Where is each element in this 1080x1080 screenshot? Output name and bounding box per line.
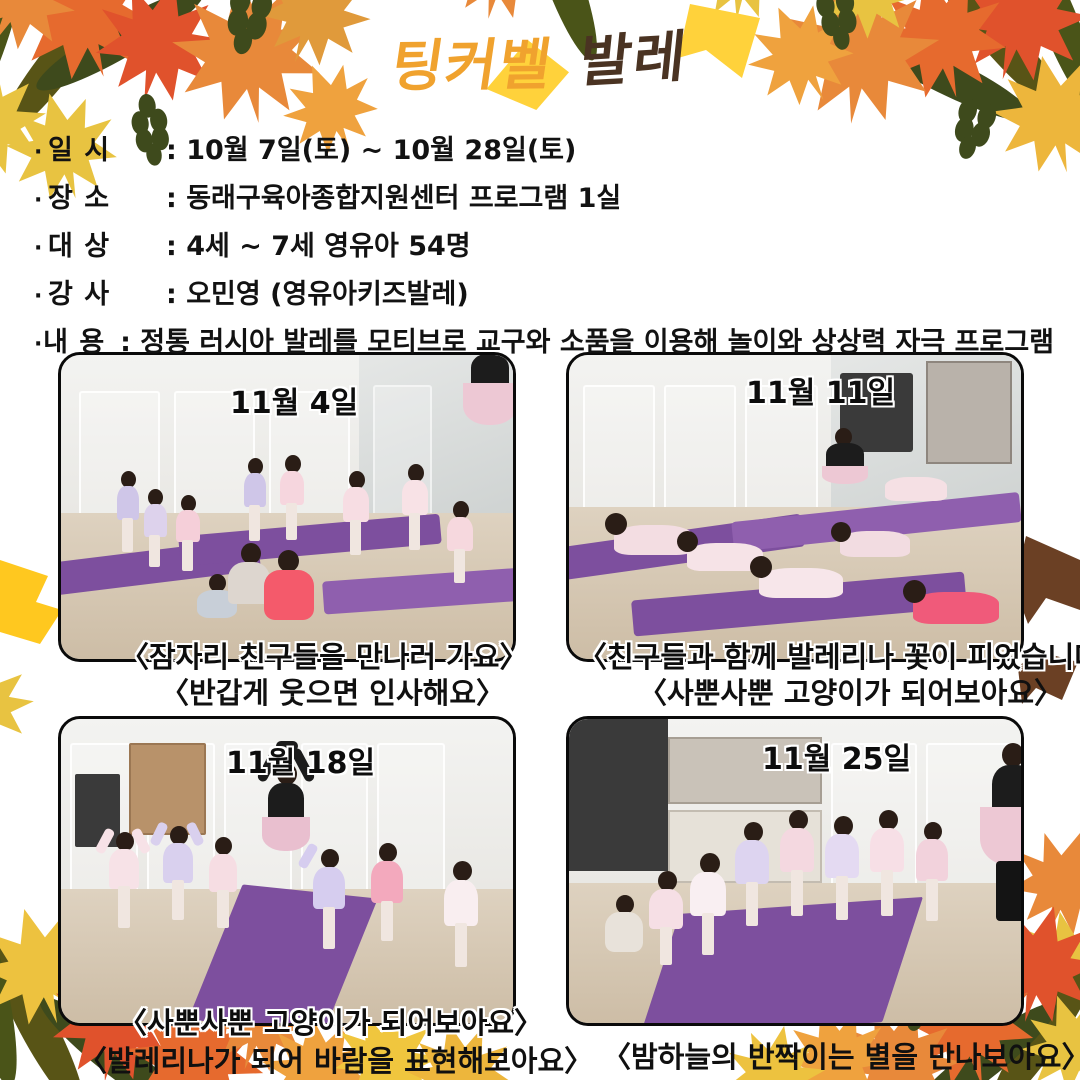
photo-cell-4[interactable]: 11월 25일 — [566, 716, 1024, 1026]
info-label: 일 시 — [48, 128, 166, 167]
title-part-2: 발레 — [576, 11, 692, 98]
page-title: 팅커벨발레 — [388, 12, 693, 104]
info-value: : 정통 러시아 발레를 모티브로 교구와 소품을 이용해 놀이와 상상력 자극… — [120, 320, 1054, 359]
photo-date-label-1: 11월 4일 — [230, 378, 358, 422]
info-label: 장 소 — [48, 176, 166, 215]
info-label: 내 용 — [43, 320, 120, 359]
photo-caption-overlay-3: 〈사뿐사뿐 고양이가 되어보아요〉 — [118, 1000, 543, 1042]
photo-date-label-4: 11월 25일 — [762, 734, 911, 778]
program-info-list: · 일 시 : 10월 7일(토) ~ 10월 28일(토) · 장 소 : 동… — [34, 128, 1054, 368]
photo-caption-below-3: 〈발레리나가 되어 바람을 표현해보아요〉 — [78, 1038, 593, 1080]
photo-caption-below-2: 〈사뿐사뿐 고양이가 되어보아요〉 — [638, 670, 1063, 712]
info-label: 대 상 — [48, 224, 166, 263]
info-value: : 4세 ~ 7세 영유아 54명 — [166, 224, 471, 263]
photo-caption-below-1: 〈반갑게 웃으면 인사해요〉 — [160, 670, 505, 712]
info-label: 강 사 — [48, 272, 166, 311]
photo-date-label-2: 11월 11일 — [746, 368, 895, 412]
title-part-1: 팅커벨 — [387, 20, 560, 103]
info-row-date: · 일 시 : 10월 7일(토) ~ 10월 28일(토) — [34, 128, 1054, 167]
poster-title-area: 팅커벨발레 — [0, 18, 1080, 99]
photo-cell-3[interactable]: 11월 18일 — [58, 716, 516, 1026]
bullet-icon: · — [34, 140, 48, 165]
info-row-place: · 장 소 : 동래구육아종합지원센터 프로그램 1실 — [34, 176, 1054, 215]
info-value: : 오민영 (영유아키즈발레) — [166, 272, 469, 311]
info-value: : 동래구육아종합지원센터 프로그램 1실 — [166, 176, 621, 215]
bullet-icon: · — [34, 284, 48, 309]
info-row-instructor: · 강 사 : 오민영 (영유아키즈발레) — [34, 272, 1054, 311]
photo-caption-below-4: 〈밤하늘의 반짝이는 별을 만나보아요〉 — [602, 1034, 1080, 1076]
bullet-icon: · — [34, 188, 48, 213]
photo-cell-1[interactable]: 11월 4일 — [58, 352, 516, 662]
info-row-content: · 내 용 : 정통 러시아 발레를 모티브로 교구와 소품을 이용해 놀이와 … — [34, 320, 1054, 359]
bullet-icon: · — [34, 332, 43, 357]
photo-date-label-3: 11월 18일 — [226, 738, 375, 782]
info-value: : 10월 7일(토) ~ 10월 28일(토) — [166, 128, 576, 167]
photo-cell-2[interactable]: 11월 11일 — [566, 352, 1024, 662]
info-row-target: · 대 상 : 4세 ~ 7세 영유아 54명 — [34, 224, 1054, 263]
bullet-icon: · — [34, 236, 48, 261]
